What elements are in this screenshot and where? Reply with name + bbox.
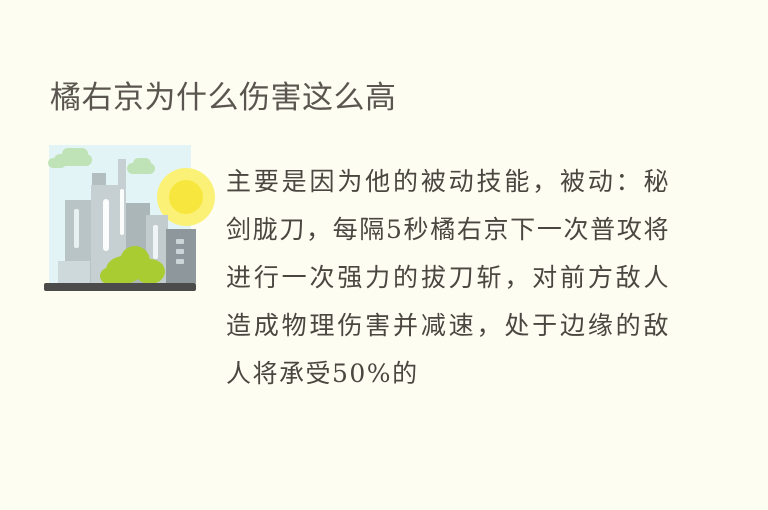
sun-core [169,180,203,214]
building-window [74,209,79,248]
cloud-icon [48,158,66,168]
ground-bar [44,283,196,291]
building-window [176,259,184,264]
article-thumbnail [40,143,200,293]
cloud-icon [62,148,88,160]
building-window [153,225,158,259]
building-right [166,229,196,283]
article-page: 橘右京为什么伤害这么高 主要是因为他的被动技能，被动：秘剑胧刀，每隔5秒橘右京下… [0,0,768,510]
building-stub [58,261,90,283]
cloud-icon [133,158,151,169]
page-title: 橘右京为什么伤害这么高 [50,77,397,119]
bush-shape [135,259,165,284]
building-window [176,249,184,254]
article-body: 主要是因为他的被动技能，被动：秘剑胧刀，每隔5秒橘右京下一次普攻将进行一次强力的… [226,158,670,398]
building-window [176,239,184,244]
building-window [120,189,124,235]
building-window [103,199,109,251]
